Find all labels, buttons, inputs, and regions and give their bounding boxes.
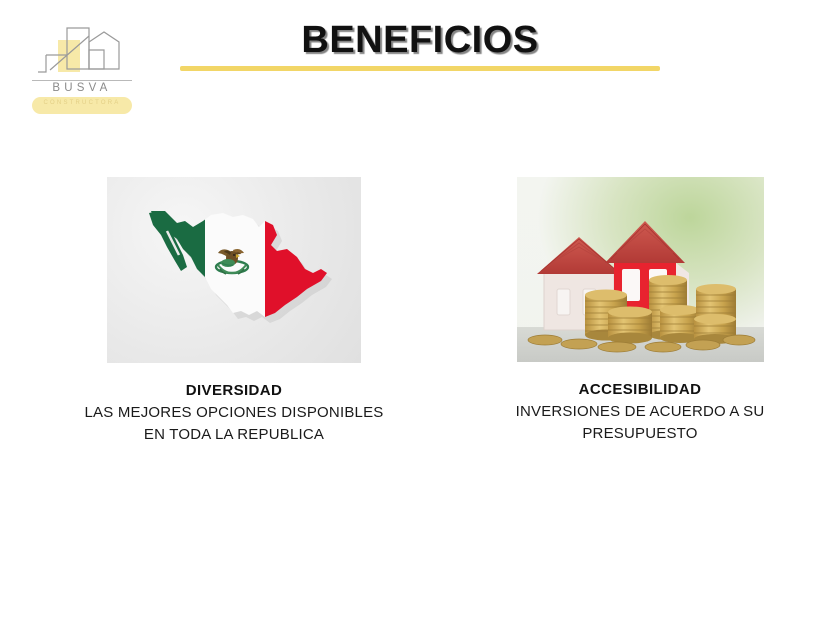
logo-divider	[32, 80, 132, 81]
benefit-card-accesibilidad: ACCESIBILIDAD INVERSIONES DE ACUERDO A S…	[450, 177, 830, 446]
benefit-body-line: LAS MEJORES OPCIONES DISPONIBLES	[14, 402, 454, 424]
benefit-body: LAS MEJORES OPCIONES DISPONIBLES EN TODA…	[14, 402, 454, 446]
buildings-outline-icon	[26, 22, 138, 84]
benefit-caption: ACCESIBILIDAD INVERSIONES DE ACUERDO A S…	[450, 379, 830, 446]
benefit-title: DIVERSIDAD	[14, 380, 454, 402]
benefit-body-line: PRESUPUESTO	[450, 423, 830, 445]
benefit-body: INVERSIONES DE ACUERDO A SU PRESUPUESTO	[450, 401, 830, 445]
busva-logo: BUSVA CONSTRUCTORA	[26, 22, 138, 122]
benefit-caption: DIVERSIDAD LAS MEJORES OPCIONES DISPONIB…	[14, 380, 454, 447]
map-flag-fill	[107, 177, 361, 363]
benefit-body-line: EN TODA LA REPUBLICA	[14, 424, 454, 446]
benefit-card-diversidad: DIVERSIDAD LAS MEJORES OPCIONES DISPONIB…	[14, 177, 454, 447]
logo-wordmark: BUSVA	[26, 82, 138, 94]
title-underline	[180, 66, 660, 71]
page-title: BENEFICIOS	[180, 19, 660, 62]
mexico-map-flag-photo	[107, 177, 361, 363]
house-and-coins-photo	[517, 177, 764, 362]
logo-tagline: CONSTRUCTORA	[32, 100, 132, 106]
benefit-body-line: INVERSIONES DE ACUERDO A SU	[450, 401, 830, 423]
logo-tagline-highlight: CONSTRUCTORA	[32, 97, 132, 114]
benefit-title: ACCESIBILIDAD	[450, 379, 830, 401]
